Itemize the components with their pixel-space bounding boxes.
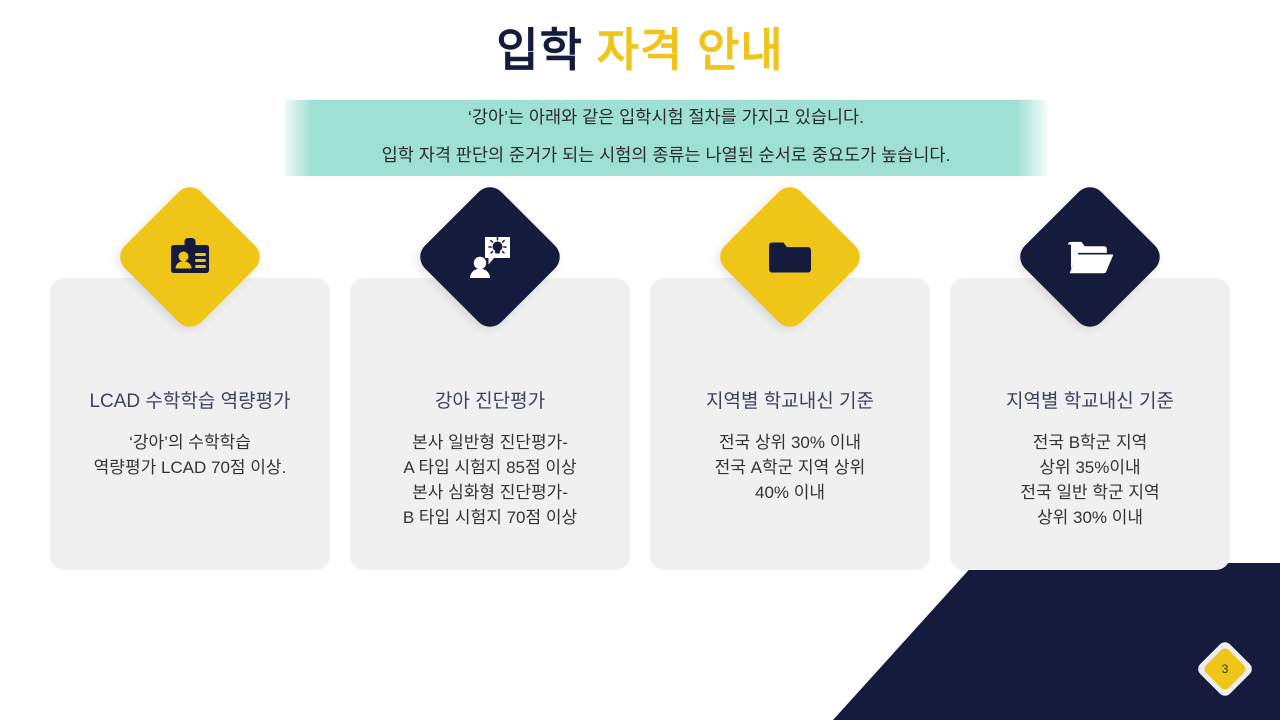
subtitle-line-1: ‘강아’는 아래와 같은 입학시험 절차를 가지고 있습니다. <box>275 98 1057 136</box>
page-title: 입학 자격 안내 <box>0 14 1280 80</box>
card-body-line: 전국 상위 30% 이내 <box>650 430 930 455</box>
card-body-line: 전국 A학군 지역 상위 <box>650 455 930 480</box>
card-body-line: 전국 B학군 지역 <box>950 430 1230 455</box>
card-body: 본사 일반형 진단평가- A 타입 시험지 85점 이상 본사 심화형 진단평가… <box>350 430 630 530</box>
page-number-value: 3 <box>1204 648 1246 690</box>
card-body: ‘강아’의 수학학습 역량평가 LCAD 70점 이상. <box>50 430 330 480</box>
slide-root: 입학 자격 안내 ‘강아’는 아래와 같은 입학시험 절차를 가지고 있습니다.… <box>0 0 1280 720</box>
card-title: 강아 진단평가 <box>350 386 630 413</box>
card-body-line: 40% 이내 <box>650 480 930 505</box>
card-body-line: 본사 심화형 진단평가- <box>350 480 630 505</box>
card-title: 지역별 학교내신 기준 <box>650 386 930 413</box>
card-body-line: B 타입 시험지 70점 이상 <box>350 505 630 530</box>
person-idea-icon <box>460 227 520 287</box>
card-body: 전국 B학군 지역 상위 35%이내 전국 일반 학군 지역 상위 30% 이내 <box>950 430 1230 530</box>
folder-open-icon <box>1060 227 1120 287</box>
card-body-line: ‘강아’의 수학학습 <box>50 430 330 455</box>
page-title-primary: 입학 <box>496 24 583 76</box>
page-title-secondary: 자격 안내 <box>597 24 784 76</box>
page-number-badge: 3 <box>1204 648 1246 690</box>
card-title: 지역별 학교내신 기준 <box>950 386 1230 413</box>
card-body-line: 역량평가 LCAD 70점 이상. <box>50 455 330 480</box>
card-body: 전국 상위 30% 이내 전국 A학군 지역 상위 40% 이내 <box>650 430 930 505</box>
card-body-line: 상위 35%이내 <box>950 455 1230 480</box>
subtitle-text: ‘강아’는 아래와 같은 입학시험 절차를 가지고 있습니다. 입학 자격 판단… <box>275 98 1057 174</box>
card-body-line: 상위 30% 이내 <box>950 505 1230 530</box>
subtitle-line-2: 입학 자격 판단의 준거가 되는 시험의 종류는 나열된 순서로 중요도가 높습… <box>275 136 1057 174</box>
id-badge-icon <box>160 227 220 287</box>
card-title: LCAD 수학학습 역량평가 <box>50 386 330 413</box>
card-body-line: 전국 일반 학군 지역 <box>950 480 1230 505</box>
folder-closed-icon <box>760 227 820 287</box>
card-body-line: 본사 일반형 진단평가- <box>350 430 630 455</box>
card-body-line: A 타입 시험지 85점 이상 <box>350 455 630 480</box>
